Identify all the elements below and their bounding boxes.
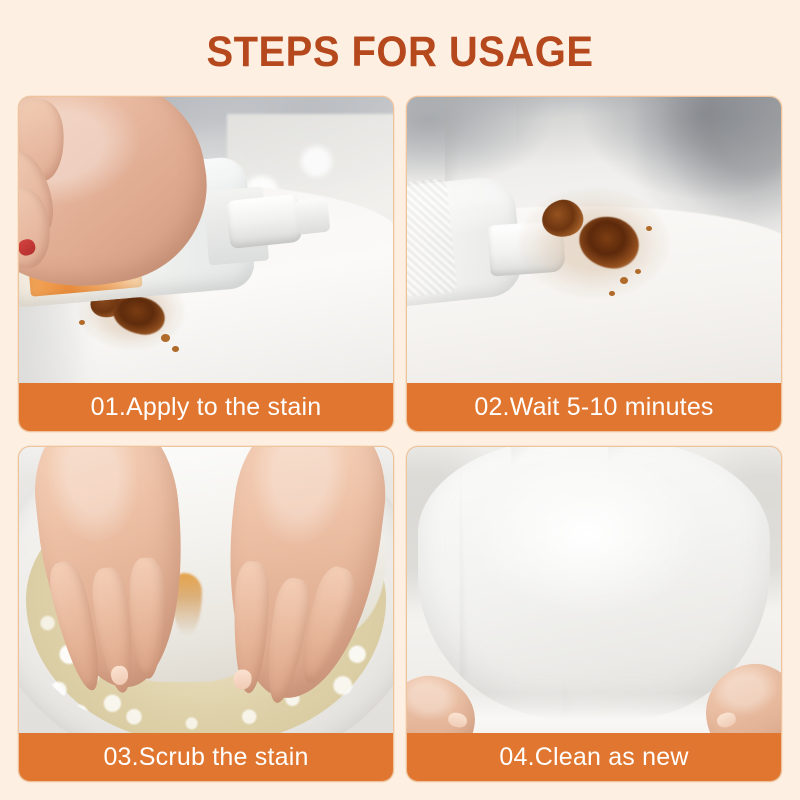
page-title: STEPS FOR USAGE (28, 28, 772, 77)
step-photo-03 (19, 447, 393, 733)
step-caption-04: 04.Clean as new (407, 733, 781, 781)
step-card-01[interactable]: 01.Apply to the stain (18, 96, 394, 432)
step-card-04[interactable]: 04.Clean as new (406, 446, 782, 782)
stain-droplet (161, 334, 170, 341)
step-caption-03: 03.Scrub the stain (19, 733, 393, 781)
step-photo-02 (407, 97, 781, 383)
step-photo-04 (407, 447, 781, 733)
steps-grid: 01.Apply to the stain 02.Wait 5-10 minut… (18, 96, 782, 782)
step-caption-01: 01.Apply to the stain (19, 383, 393, 431)
pump-head (224, 172, 330, 267)
step-caption-02: 02.Wait 5-10 minutes (407, 383, 781, 431)
stain-droplet (79, 320, 85, 325)
step-card-02[interactable]: 02.Wait 5-10 minutes (406, 96, 782, 432)
steps-for-usage-infographic: STEPS FOR USAGE (0, 0, 800, 800)
cloth-wrinkles (418, 447, 770, 719)
stain-droplet (172, 346, 179, 352)
step-photo-01 (19, 97, 393, 383)
step-card-03[interactable]: 03.Scrub the stain (18, 446, 394, 782)
pump-body (226, 194, 303, 249)
stain-droplet (609, 291, 615, 296)
pump-tip (295, 197, 331, 235)
